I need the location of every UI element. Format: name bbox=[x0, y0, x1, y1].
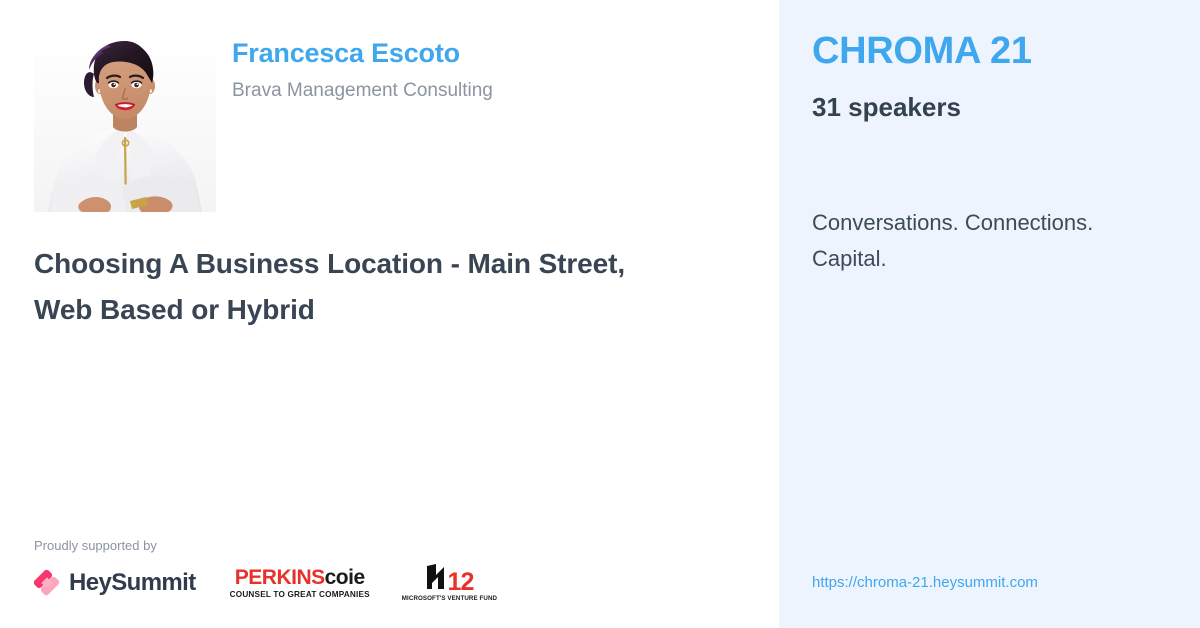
speaker-meta: Francesca Escoto Brava Management Consul… bbox=[232, 31, 493, 103]
right-panel: CHROMA 21 31 speakers Conversations. Con… bbox=[779, 0, 1200, 628]
speaker-name: Francesca Escoto bbox=[232, 38, 493, 69]
sponsors-label: Proudly supported by bbox=[34, 539, 734, 552]
heysummit-wordmark: HeySummit bbox=[69, 571, 196, 595]
event-title: CHROMA 21 bbox=[812, 30, 1032, 74]
heysummit-logo-icon bbox=[34, 570, 60, 596]
sponsor-logo-heysummit: HeySummit bbox=[34, 570, 196, 596]
coie-word: coie bbox=[325, 566, 365, 589]
event-speaker-count: 31 speakers bbox=[812, 93, 961, 123]
sponsor-logo-m12: 12 MICROSOFT'S VENTURE FUND bbox=[402, 564, 497, 602]
sponsor-logo-perkins-coie: PERKINScoie COUNSEL TO GREAT COMPANIES bbox=[230, 567, 370, 599]
m12-tagline: MICROSOFT'S VENTURE FUND bbox=[402, 596, 497, 602]
headshot-illustration bbox=[34, 31, 216, 212]
speaker-photo bbox=[34, 31, 216, 212]
perkins-coie-tagline: COUNSEL TO GREAT COMPANIES bbox=[230, 591, 370, 599]
perkins-coie-wordmark: PERKINScoie bbox=[230, 567, 370, 588]
m12-logo-icon bbox=[426, 564, 447, 593]
sponsors-section: Proudly supported by HeySummit bbox=[34, 539, 734, 602]
talk-title: Choosing A Business Location - Main Stre… bbox=[34, 241, 634, 333]
event-tagline: Conversations. Connections. Capital. bbox=[812, 205, 1172, 278]
speaker-block: Francesca Escoto Brava Management Consul… bbox=[34, 31, 493, 212]
perkins-word: PERKINS bbox=[235, 566, 325, 589]
m12-wordmark: 12 bbox=[402, 564, 497, 593]
speaker-company: Brava Management Consulting bbox=[232, 80, 493, 103]
event-url-link[interactable]: https://chroma-21.heysummit.com bbox=[812, 575, 1038, 590]
left-panel: Francesca Escoto Brava Management Consul… bbox=[0, 0, 779, 628]
sponsor-logo-row: HeySummit PERKINScoie COUNSEL TO GREAT C… bbox=[34, 564, 734, 602]
speaker-share-card: Francesca Escoto Brava Management Consul… bbox=[0, 0, 1200, 628]
m12-number: 12 bbox=[448, 571, 474, 593]
